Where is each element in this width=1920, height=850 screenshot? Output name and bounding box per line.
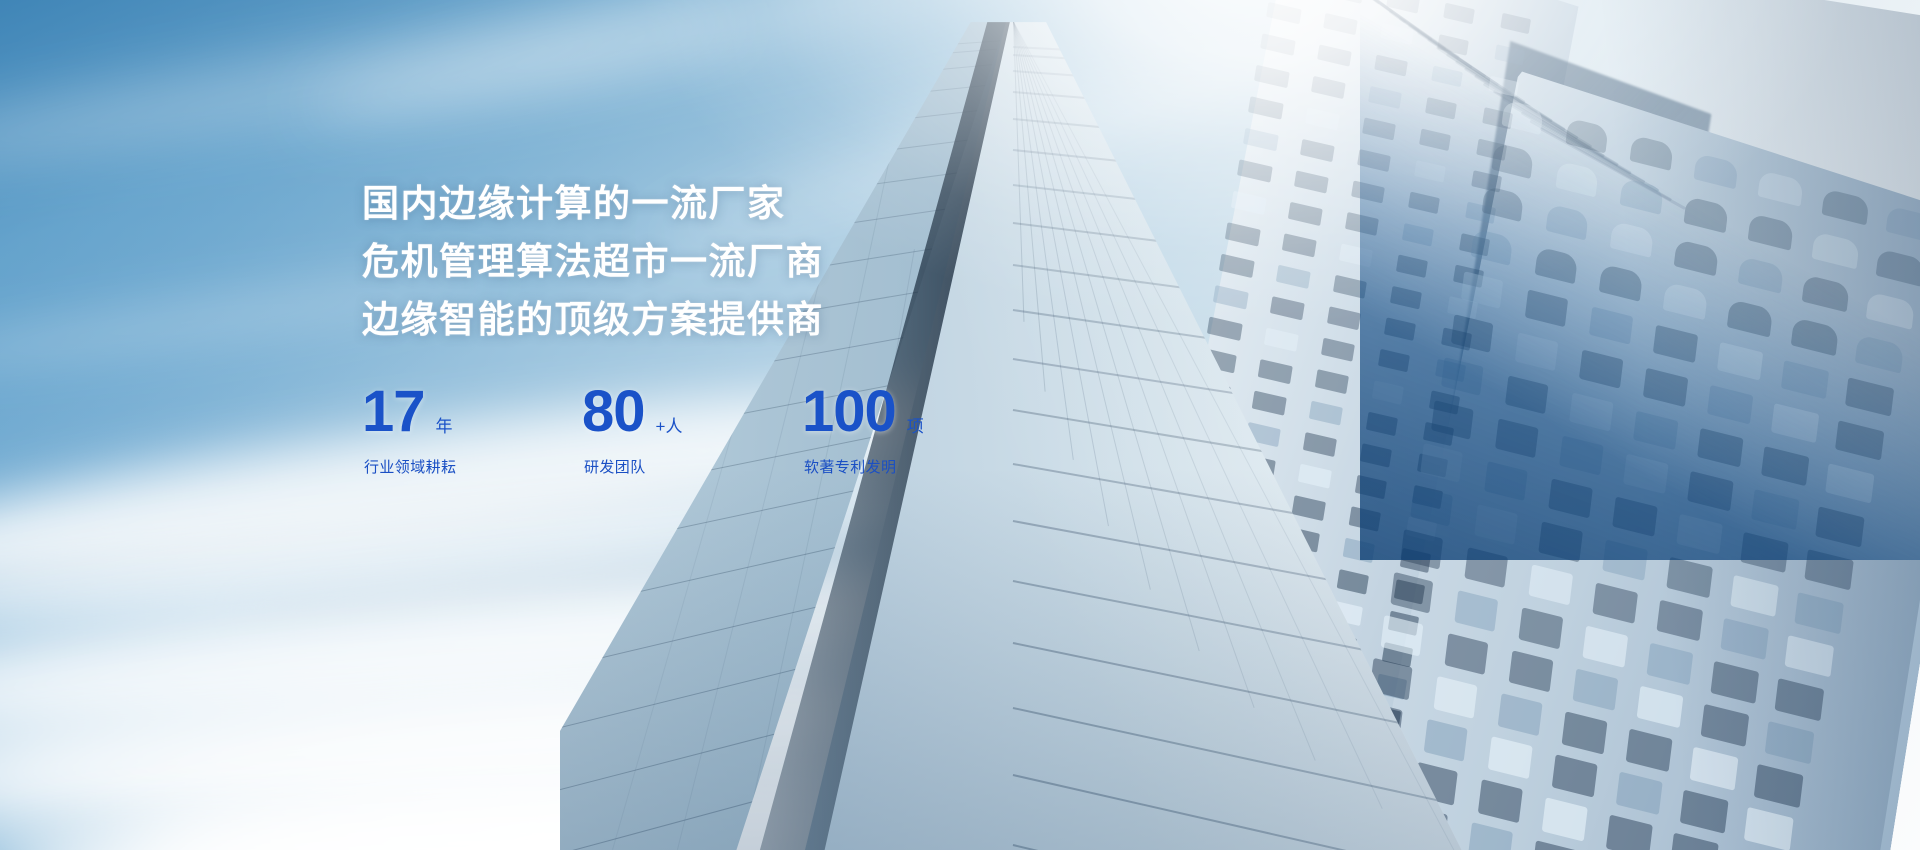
hero-banner: 国内边缘计算的一流厂家 危机管理算法超市一流厂商 边缘智能的顶级方案提供商 17… bbox=[0, 0, 1920, 850]
stat-number: 100 bbox=[802, 382, 896, 442]
headline-line-3: 边缘智能的顶级方案提供商 bbox=[362, 291, 1002, 349]
stat-caption: 行业领域耕耘 bbox=[364, 458, 456, 478]
stat-unit: 年 bbox=[436, 418, 453, 435]
headline-line-1: 国内边缘计算的一流厂家 bbox=[362, 175, 1002, 233]
headline-line-2: 危机管理算法超市一流厂商 bbox=[362, 233, 1002, 291]
stat-caption: 软著专利发明 bbox=[804, 458, 896, 478]
stat-unit: 项 bbox=[907, 418, 924, 435]
stats-block: 17 年 行业领域耕耘 80 +人 研发团队 100 项 软著专利发明 bbox=[362, 382, 1022, 442]
hero-content: 国内边缘计算的一流厂家 危机管理算法超市一流厂商 边缘智能的顶级方案提供商 17… bbox=[0, 0, 1920, 850]
stat-item-years: 17 年 行业领域耕耘 bbox=[362, 382, 582, 442]
stat-caption: 研发团队 bbox=[584, 458, 646, 478]
stat-number: 80 bbox=[582, 382, 645, 442]
stat-value-row: 100 项 bbox=[802, 382, 1022, 442]
stat-item-patents: 100 项 软著专利发明 bbox=[802, 382, 1022, 442]
headline-block: 国内边缘计算的一流厂家 危机管理算法超市一流厂商 边缘智能的顶级方案提供商 bbox=[362, 175, 1002, 349]
stat-item-team: 80 +人 研发团队 bbox=[582, 382, 802, 442]
stat-value-row: 17 年 bbox=[362, 382, 582, 442]
stat-number: 17 bbox=[362, 382, 425, 442]
stat-value-row: 80 +人 bbox=[582, 382, 802, 442]
stat-unit: +人 bbox=[656, 418, 683, 435]
